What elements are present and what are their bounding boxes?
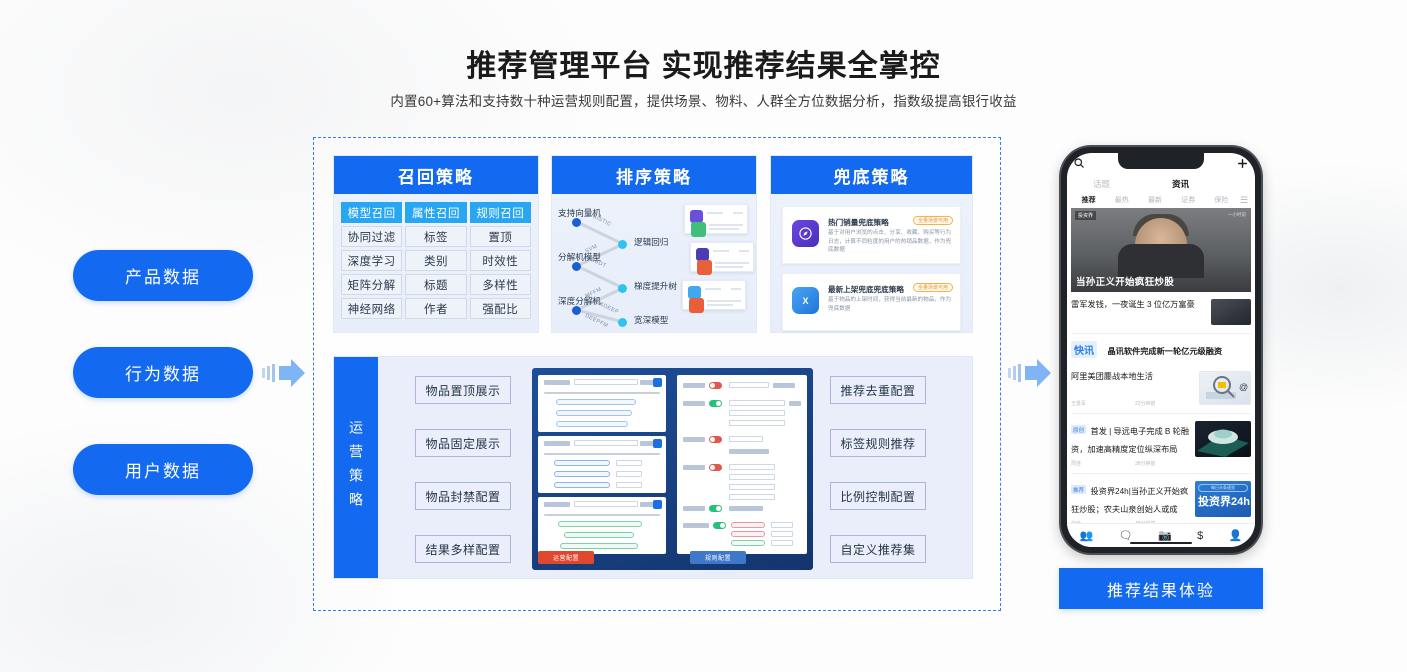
recall-cell[interactable]: 标题: [405, 274, 466, 295]
dashboard-list-pane: [538, 436, 666, 493]
ranking-right-node-1: 梯度提升树: [634, 280, 677, 292]
divider: [1071, 473, 1251, 474]
news-text: 晶讯软件完成新一轮亿元级融资: [1107, 347, 1222, 356]
ranking-node-dot: [618, 284, 627, 293]
brand-thumb-sub: 每日头条速览: [1198, 484, 1248, 492]
hero-person-body: [1118, 244, 1204, 278]
chat-icon[interactable]: 🗨: [1119, 529, 1133, 542]
fallback-card[interactable]: 热门销量兜底策略 全量场景可用 基于对用户浏览的点击、分享、收藏、购买等行为日志…: [782, 206, 961, 264]
news-item[interactable]: 阿里美团鏖战本地生活 @ 王勇军 22分钟前: [1071, 371, 1251, 407]
fallback-card-desc: 基于对用户浏览的点击、分享、收藏、购买等行为日志，计算不同粒度的用户的热销品数据…: [828, 229, 954, 255]
news-thumbnail-brand: 每日头条速览 投资界24h: [1195, 481, 1251, 517]
news-meta-left: 周佳: [1071, 460, 1081, 467]
ops-button-ratio-control[interactable]: 比例控制配置: [830, 482, 926, 510]
recall-header-cell[interactable]: 属性召回: [405, 202, 466, 223]
tab-insurance[interactable]: 保险: [1205, 195, 1238, 205]
recall-header-cell[interactable]: 规则召回: [470, 202, 531, 223]
hero-title: 当孙正义开始疯狂炒股: [1076, 274, 1174, 288]
magnifier-illustration-icon: @: [1200, 372, 1252, 406]
brand-thumb-text: 投资界24h: [1198, 493, 1250, 509]
phone-screen: 话题 资讯 推荐 最热 最新 证券 保险 ☰ 投资界 一小时前 当孙正义开始疯狂…: [1067, 153, 1255, 547]
tab-securities[interactable]: 证券: [1172, 195, 1205, 205]
car-illustration-icon: [1195, 421, 1251, 457]
news-item[interactable]: 推荐 投资界24h|当孙正义开始疯狂炒股；农夫山泉创始人或成 每日头条速览 投资…: [1071, 481, 1251, 527]
pill-label: 用户数据: [125, 457, 201, 482]
news-thumbnail: @: [1199, 371, 1251, 405]
recall-cell[interactable]: 时效性: [470, 250, 531, 271]
flow-arrow-right-icon: [1008, 358, 1054, 388]
poster-root: 推荐管理平台 实现推荐结果全掌控 内置60+算法和支持数十种运营规则配置，提供场…: [0, 0, 1407, 672]
panel-fallback-title: 兜底策略: [771, 156, 972, 194]
ops-button-item-ban[interactable]: 物品封禁配置: [415, 482, 511, 510]
news-item[interactable]: 雷军发钱，一夜诞生 3 位亿万富豪: [1071, 299, 1251, 329]
recall-cell[interactable]: 置顶: [470, 226, 531, 247]
ranking-result-card: [684, 204, 748, 234]
ranking-right-node-2: 宽深模型: [634, 314, 668, 326]
camera-icon[interactable]: 📷: [1158, 529, 1172, 542]
ranking-result-card: [682, 280, 746, 310]
pill-label: 行为数据: [125, 360, 201, 385]
news-item[interactable]: 原创 首发 | 导远电子完成 B 轮融资，加速高精度定位纵深布局 周佳 38分钟…: [1071, 421, 1251, 467]
fallback-card-title: 最新上架兜底兜底策略: [828, 284, 904, 295]
news-text: 阿里美团鏖战本地生活: [1071, 371, 1193, 383]
recall-cell[interactable]: 神经网络: [341, 298, 402, 319]
ops-button-result-diversity[interactable]: 结果多样配置: [415, 535, 511, 563]
hero-tag: 投资界: [1075, 211, 1096, 220]
data-pill-behavior[interactable]: 行为数据: [73, 347, 253, 398]
divider: [1071, 333, 1251, 334]
data-pill-user[interactable]: 用户数据: [73, 444, 253, 495]
panel-recall-title: 召回策略: [334, 156, 538, 194]
phone-notch: [1118, 153, 1204, 169]
fallback-card-desc: 基于物品的上架时间，获得当前最新的物品，作为兜底数据: [828, 296, 954, 313]
page-title: 推荐管理平台 实现推荐结果全掌控: [0, 41, 1407, 85]
recall-grid: 模型召回 属性召回 规则召回 协同过滤 标签 置顶 深度学习 类别 时效性 矩阵…: [334, 194, 538, 325]
news-meta-right: 38分钟前: [1135, 460, 1156, 467]
dashboard-preview: 运营配置 规则配置: [532, 368, 813, 570]
recall-cell[interactable]: 矩阵分解: [341, 274, 402, 295]
recall-header-cell[interactable]: 模型召回: [341, 202, 402, 223]
panel-fallback-strategy: 兜底策略 热门销量兜底策略 全量场景可用 基于对用户浏览的点击、分享、收藏、购买…: [770, 155, 973, 333]
money-icon[interactable]: $: [1197, 530, 1203, 542]
profile-icon[interactable]: 👤: [1229, 529, 1243, 542]
recall-cell[interactable]: 协同过滤: [341, 226, 402, 247]
panel-ranking-strategy: 排序策略 支持向量机 分解机模型 深度分解机 LOGISTIC SVM GBDT: [551, 155, 757, 333]
ops-button-item-pin[interactable]: 物品置顶展示: [415, 376, 511, 404]
pill-label: 产品数据: [125, 263, 201, 288]
news-text: 雷军发钱，一夜诞生 3 位亿万富豪: [1071, 299, 1199, 311]
phone-hero-article[interactable]: 投资界 一小时前 当孙正义开始疯狂炒股: [1071, 208, 1251, 292]
tab-news[interactable]: 资讯: [1172, 178, 1189, 190]
phone-mockup: 话题 资讯 推荐 最热 最新 证券 保险 ☰ 投资界 一小时前 当孙正义开始疯狂…: [1061, 147, 1261, 553]
dashboard-cta-right[interactable]: 规则配置: [690, 551, 746, 564]
ranking-node-dot: [618, 240, 627, 249]
news-text: 首发 | 导远电子完成 B 轮融资，加速高精度定位纵深布局: [1071, 427, 1189, 454]
recall-cell[interactable]: 作者: [405, 298, 466, 319]
ranking-right-node-0: 逻辑回归: [634, 236, 668, 248]
dashboard-list-pane: [538, 497, 666, 554]
news-thumbnail: [1195, 421, 1251, 457]
flow-arrow-left-icon: [262, 358, 308, 388]
recall-cell[interactable]: 标签: [405, 226, 466, 247]
ranking-node-dot: [572, 262, 581, 271]
news-badge: 快讯: [1071, 341, 1097, 358]
phone-category-tabs: 推荐 最热 最新 证券 保险 ☰: [1067, 192, 1255, 208]
news-badge: 推荐: [1071, 485, 1086, 494]
fallback-card-tag: 全量场景可用: [913, 283, 953, 292]
phone-primary-tabs: 话题 资讯: [1067, 175, 1255, 192]
dashboard-config-pane: [677, 375, 807, 554]
compass-icon: [792, 220, 819, 247]
news-item[interactable]: 快讯 晶讯软件完成新一轮亿元级融资: [1071, 341, 1251, 365]
hamburger-icon[interactable]: ☰: [1238, 195, 1250, 206]
page-subtitle: 内置60+算法和支持数十种运营规则配置，提供场景、物料、人群全方位数据分析，指数…: [0, 90, 1407, 110]
calendar-icon: X: [792, 287, 819, 314]
tab-recommend[interactable]: 推荐: [1072, 195, 1105, 205]
news-badge: 原创: [1071, 425, 1086, 434]
panel-recall-strategy: 召回策略 模型召回 属性召回 规则召回 协同过滤 标签 置顶 深度学习 类别 时…: [333, 155, 539, 333]
ops-button-custom-set[interactable]: 自定义推荐集: [830, 535, 926, 563]
search-icon[interactable]: [1073, 157, 1085, 169]
news-text: 投资界24h|当孙正义开始疯狂炒股；农夫山泉创始人或成: [1071, 487, 1188, 514]
experience-button[interactable]: 推荐结果体验: [1059, 568, 1263, 609]
fallback-card-list: 热门销量兜底策略 全量场景可用 基于对用户浏览的点击、分享、收藏、购买等行为日志…: [771, 194, 972, 352]
ranking-node-dot: [572, 218, 581, 227]
group-icon[interactable]: 👥: [1080, 529, 1094, 542]
fallback-card[interactable]: X 最新上架兜底兜底策略 全量场景可用 基于物品的上架时间，获得当前最新的物品，…: [782, 273, 961, 331]
recall-cell[interactable]: 类别: [405, 250, 466, 271]
recall-cell[interactable]: 强配比: [470, 298, 531, 319]
panel-ranking-title: 排序策略: [552, 156, 756, 194]
tab-newest[interactable]: 最新: [1138, 195, 1171, 205]
recall-cell[interactable]: 多样性: [470, 274, 531, 295]
news-thumbnail: [1211, 299, 1251, 325]
ops-button-dedup[interactable]: 推荐去重配置: [830, 376, 926, 404]
tab-hottest[interactable]: 最热: [1105, 195, 1138, 205]
operations-side-label: 运营策略: [334, 357, 378, 578]
divider: [1071, 413, 1251, 414]
home-indicator: [1130, 542, 1192, 544]
fallback-card-tag: 全量场景可用: [913, 216, 953, 225]
ranking-node-dot: [618, 318, 627, 327]
ops-button-item-fixed[interactable]: 物品固定展示: [415, 429, 511, 457]
tab-topic[interactable]: 话题: [1093, 178, 1110, 190]
ranking-result-card: [690, 242, 754, 272]
ranking-diagram: 支持向量机 分解机模型 深度分解机 LOGISTIC SVM GBDT MFFM…: [552, 194, 756, 334]
dashboard-cta-left[interactable]: 运营配置: [538, 551, 594, 564]
ranking-node-dot: [572, 306, 581, 315]
operations-side-text: 运营策略: [346, 420, 366, 516]
plus-icon[interactable]: [1236, 157, 1249, 170]
svg-text:@: @: [1239, 382, 1248, 392]
dashboard-list-pane: [538, 375, 666, 432]
news-meta-right: 22分钟前: [1135, 400, 1156, 407]
data-pill-product[interactable]: 产品数据: [73, 250, 253, 301]
experience-button-label: 推荐结果体验: [1107, 577, 1215, 601]
fallback-card-title: 热门销量兜底策略: [828, 217, 889, 228]
hero-time: 一小时前: [1228, 212, 1246, 218]
ops-button-tag-rule[interactable]: 标签规则推荐: [830, 429, 926, 457]
news-meta-left: 王勇军: [1071, 400, 1086, 407]
recall-cell[interactable]: 深度学习: [341, 250, 402, 271]
